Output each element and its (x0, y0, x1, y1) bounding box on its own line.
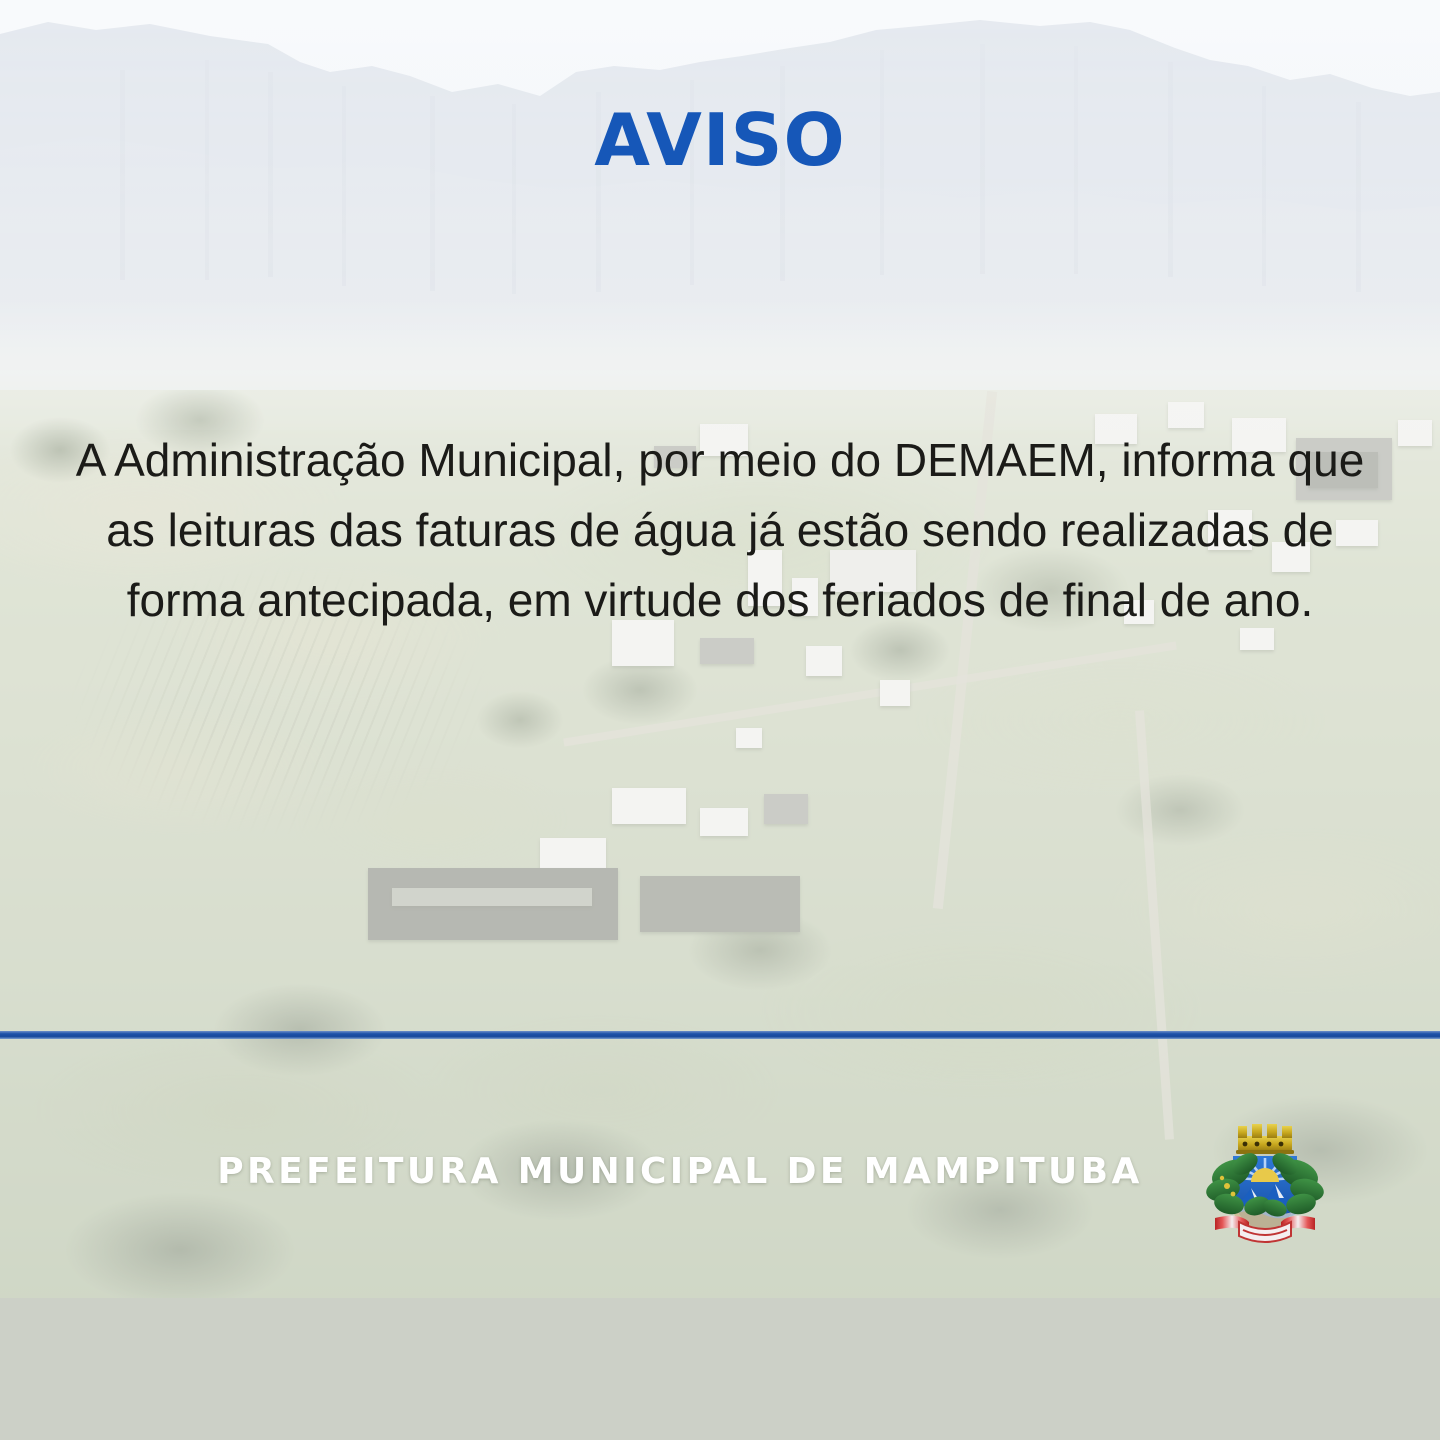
poster-content: AVISO A Administração Municipal, por mei… (0, 0, 1440, 1440)
poster-canvas: AVISO A Administração Municipal, por mei… (0, 0, 1440, 1440)
horizontal-divider (0, 1031, 1440, 1039)
coat-of-arms-icon (1205, 1118, 1325, 1248)
page-title: AVISO (0, 104, 1440, 176)
footer-bar: PREFEITURA MUNICIPAL DE MAMPITUBA (0, 1140, 1440, 1270)
organization-name: PREFEITURA MUNICIPAL DE MAMPITUBA (160, 1154, 1200, 1190)
announcement-body-text: A Administração Municipal, por meio do D… (60, 425, 1380, 635)
